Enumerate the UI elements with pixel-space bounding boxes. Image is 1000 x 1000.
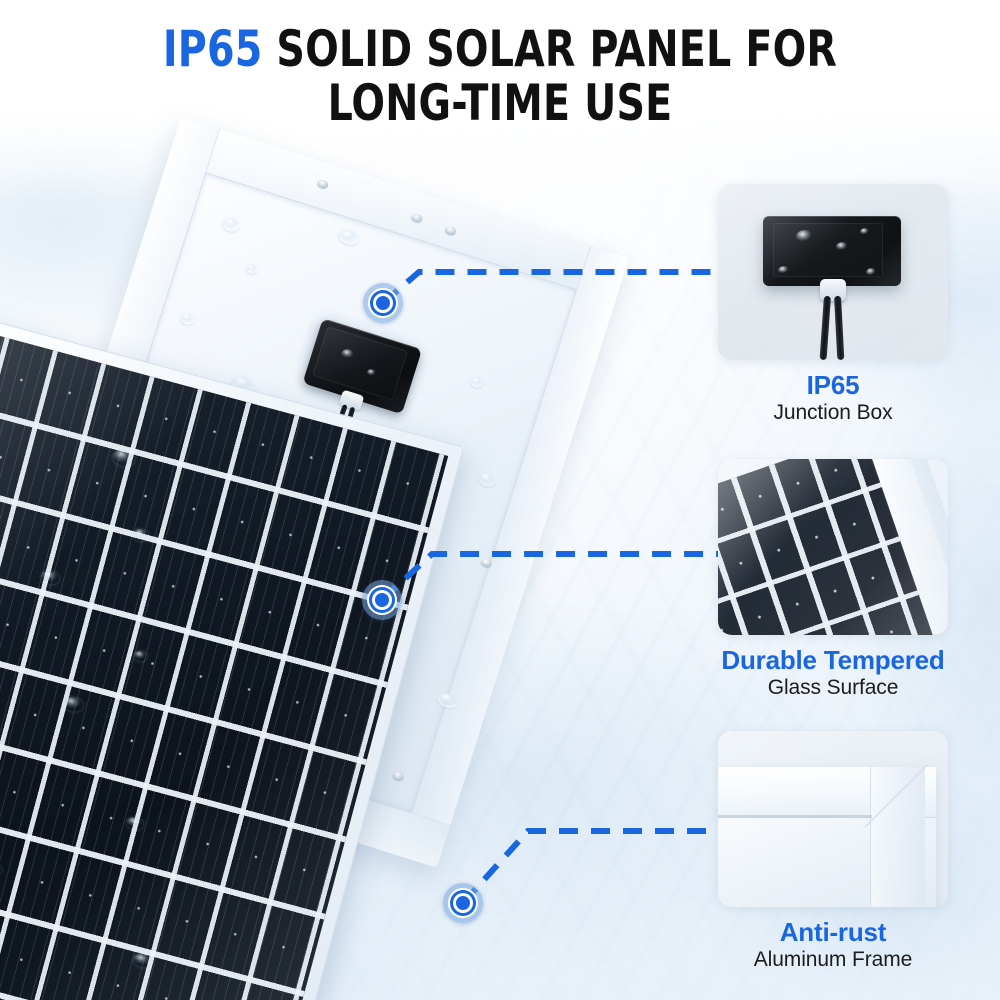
junction-box-photo [718,184,948,360]
junction-box [301,318,422,420]
feature-subtitle: Junction Box [698,400,968,426]
feature-caption-tempered-glass: Durable Tempered Glass Surface [698,645,968,701]
feature-caption-junction-box: IP65 Junction Box [698,370,968,426]
feature-title: IP65 [698,370,968,400]
marker-junction-box[interactable] [363,283,403,323]
headline-line-1-rest [262,20,276,78]
feature-subtitle: Glass Surface [698,675,968,701]
marker-center-dot [456,896,470,910]
marker-center-dot [376,296,390,310]
aluminum-frame-photo [718,731,948,907]
feature-subtitle: Aluminum Frame [698,947,968,973]
marker-aluminum-frame[interactable] [443,883,483,923]
tempered-glass-photo [718,459,948,635]
feature-title: Anti-rust [698,917,968,947]
headline: IP65 SOLID SOLAR PANEL FOR LONG-TIME USE [0,22,1000,130]
photo-gloss [718,731,948,907]
product-photo: Solar Panel [0,160,642,1000]
marker-tempered-glass[interactable] [362,580,402,620]
infographic-canvas: IP65 SOLID SOLAR PANEL FOR LONG-TIME USE [0,0,1000,1000]
aluminum-frame-photo-inner [718,731,948,907]
feature-title: Durable Tempered [698,645,968,675]
junction-box-photo-inner [718,184,948,360]
headline-line-1-text: SOLID SOLAR PANEL FOR [276,20,837,78]
headline-line-2: LONG-TIME USE [60,76,940,130]
photo-gloss [718,459,948,635]
tempered-glass-photo-inner [718,459,948,635]
marker-center-dot [375,593,389,607]
feature-caption-aluminum-frame: Anti-rust Aluminum Frame [698,917,968,973]
headline-accent: IP65 [163,20,263,78]
headline-line-1: IP65 SOLID SOLAR PANEL FOR [60,22,940,76]
photo-gloss [718,184,948,360]
